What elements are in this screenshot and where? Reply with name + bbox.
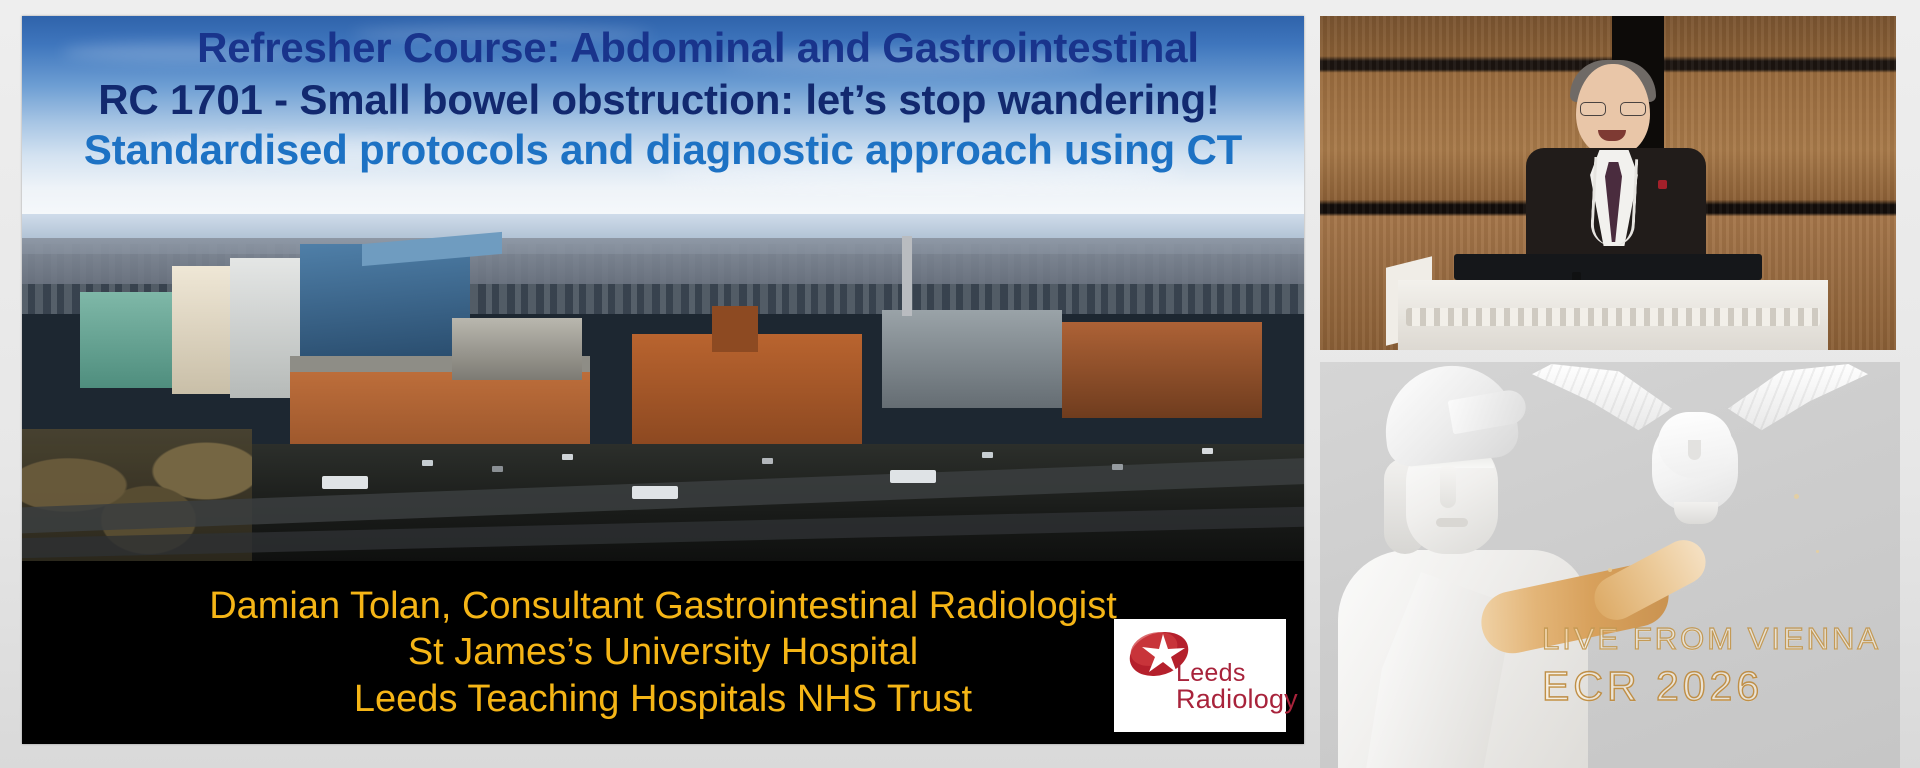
building-chimney xyxy=(902,236,912,316)
slide-title-block: Refresher Course: Abdominal and Gastroin… xyxy=(22,16,1304,221)
bus-vehicle xyxy=(322,476,368,489)
car-vehicle xyxy=(422,460,433,466)
slide-caption-bar: Damian Tolan, Consultant Gastrointestina… xyxy=(22,561,1304,744)
slide-title-line-3: Standardised protocols and diagnostic ap… xyxy=(22,128,1304,173)
speaker-hospital-line: St James’s University Hospital xyxy=(408,629,918,675)
aerial-hospital-photo xyxy=(22,214,1304,569)
ecr-live-from-vienna-text: LIVE FROM VIENNA xyxy=(1542,621,1892,657)
owl-talons xyxy=(1674,502,1718,524)
slide-title-line-2: RC 1701 - Small bowel obstruction: let’s… xyxy=(22,78,1304,123)
speaker-name-line: Damian Tolan, Consultant Gastrointestina… xyxy=(209,583,1117,629)
speaker-trust-line: Leeds Teaching Hospitals NHS Trust xyxy=(354,676,972,722)
statue-nose xyxy=(1440,466,1456,508)
slide-title-line-1: Refresher Course: Abdominal and Gastroin… xyxy=(22,26,1304,71)
leeds-radiology-logo: Leeds Radiology xyxy=(1114,619,1286,732)
building-teal-block xyxy=(80,292,176,388)
right-column: LIVE FROM VIENNA ECR 2026 xyxy=(1320,16,1900,768)
car-vehicle xyxy=(562,454,573,460)
building-grey-mid xyxy=(452,318,582,380)
speaker-video-feed[interactable] xyxy=(1320,16,1896,350)
glasses-icon xyxy=(1580,102,1646,116)
ecr-branding-panel: LIVE FROM VIENNA ECR 2026 xyxy=(1320,362,1900,768)
owl-wing-left xyxy=(1532,364,1672,436)
building-cream-tower xyxy=(172,266,234,394)
lapel-pin xyxy=(1658,180,1667,189)
ecr-text-block: LIVE FROM VIENNA ECR 2026 xyxy=(1542,621,1892,710)
building-victorian-tower xyxy=(712,306,758,352)
screen-root: Refresher Course: Abdominal and Gastroin… xyxy=(0,0,1920,768)
ecr-2026-text: ECR 2026 xyxy=(1542,663,1892,710)
bus-vehicle xyxy=(632,486,678,499)
car-vehicle xyxy=(1202,448,1213,454)
owl-wing-right xyxy=(1728,364,1868,436)
statue-lips xyxy=(1436,518,1468,527)
building-far-right-brick xyxy=(1062,322,1262,418)
owl-figure xyxy=(1546,362,1846,540)
lectern-monitor xyxy=(1454,254,1762,280)
sparkle-dot xyxy=(1816,550,1819,553)
bus-vehicle xyxy=(890,470,936,483)
leeds-radiology-wordmark: Leeds Radiology xyxy=(1176,661,1298,713)
lectern-ornament-band xyxy=(1406,308,1820,326)
car-vehicle xyxy=(492,466,503,472)
owl-beak xyxy=(1688,440,1701,460)
lectern xyxy=(1398,254,1828,350)
building-far-right-block xyxy=(882,310,1062,408)
car-vehicle xyxy=(762,458,773,464)
car-vehicle xyxy=(1112,464,1123,470)
logo-line-radiology: Radiology xyxy=(1176,686,1298,713)
sparkle-dot xyxy=(1794,494,1799,499)
car-vehicle xyxy=(982,452,993,458)
logo-line-leeds: Leeds xyxy=(1176,661,1298,686)
sparkle-dot xyxy=(1608,568,1612,572)
presentation-slide[interactable]: Refresher Course: Abdominal and Gastroin… xyxy=(22,16,1304,744)
